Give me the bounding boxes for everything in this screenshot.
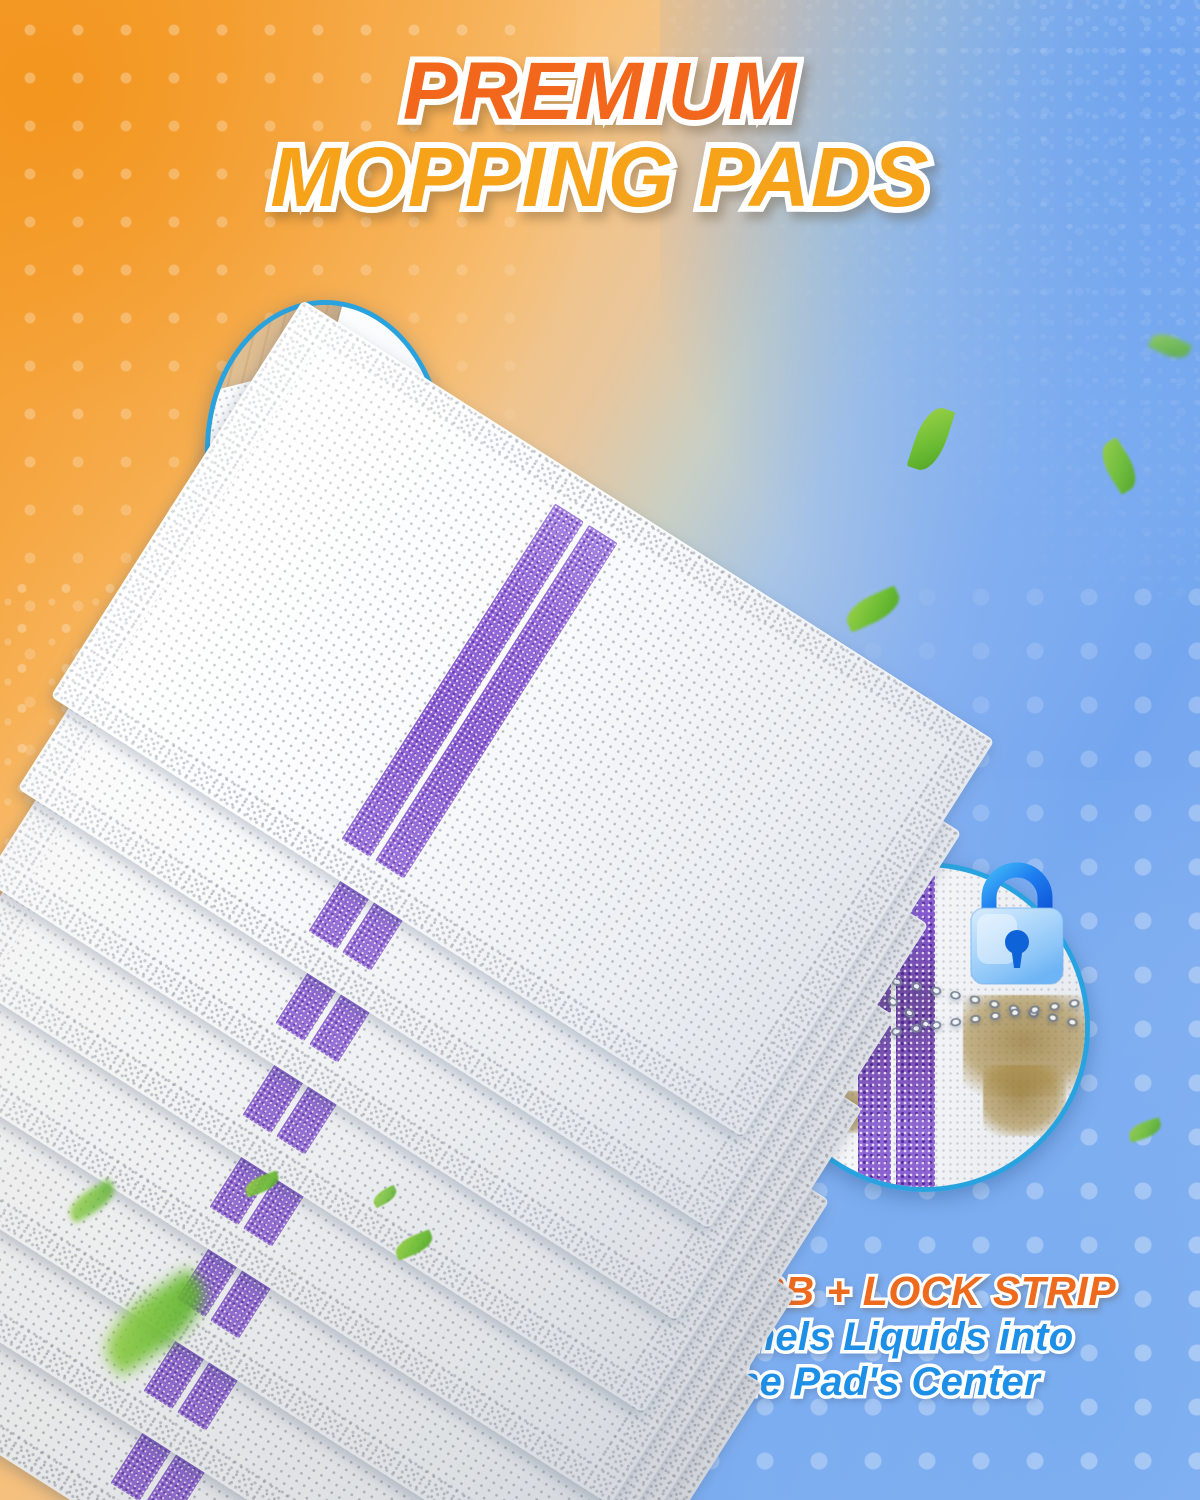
absorb-lock-strip [375,525,618,879]
padlock-icon [955,858,1079,994]
absorb-lock-strip [341,503,584,857]
product-infographic-canvas: PREMIUM MOPPING PADS SOFT TEXTURE Of Mic… [0,0,1200,1500]
liquid-stain [983,1065,1066,1135]
title-line-1: PREMIUM [0,52,1200,132]
page-title: PREMIUM MOPPING PADS [0,52,1200,219]
title-line-2: MOPPING PADS [0,136,1200,218]
